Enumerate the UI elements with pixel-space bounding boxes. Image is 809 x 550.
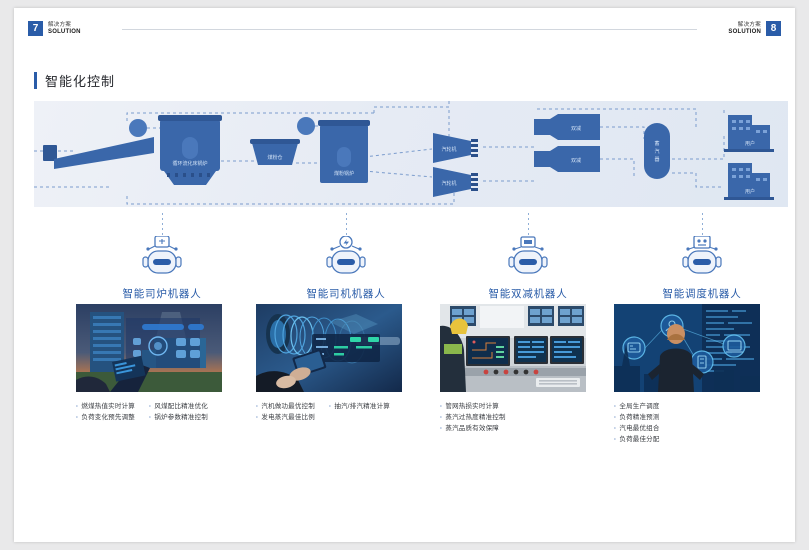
- section-accent-bar: [34, 72, 37, 89]
- dispatch-dashboard-photo: [614, 304, 760, 392]
- card-bullets: 燃煤热值实时计算 风煤配比精准优化 负荷变化预先调整 锅炉参数精准控制: [76, 401, 222, 423]
- diagram-users: 用户 用户: [724, 115, 774, 200]
- diagram-label-accumulator-2: 汽: [654, 148, 659, 155]
- feature-card: 燃煤热值实时计算 风煤配比精准优化 负荷变化预先调整 锅炉参数精准控制: [76, 304, 222, 423]
- header-left-en: SOLUTION: [48, 29, 81, 36]
- power-plant-operator-photo: [76, 304, 222, 392]
- robot-item-reducer: 智能双减机器人: [434, 213, 622, 301]
- bullet-item: 燃煤热值实时计算: [76, 401, 149, 412]
- section-title: 智能化控制: [34, 71, 115, 90]
- diagram-label-boiler2: 煤粉锅炉: [334, 170, 354, 177]
- robot-label: 智能调度机器人: [608, 286, 796, 301]
- bullet-item: 抽汽/排汽精准计算: [329, 401, 402, 412]
- bullet-item: 汽机做功最优控制: [256, 401, 329, 412]
- robot-item-driver: 智能司机机器人: [252, 213, 440, 301]
- header-right-cn: 解决方案: [728, 22, 761, 29]
- slide-canvas: 7 解决方案 SOLUTION 解决方案 SOLUTION 8 智能化控制 .d…: [14, 8, 795, 542]
- feature-card: 全局生产调度 负荷精准预测 汽电最优组合 负荷最佳分配: [614, 304, 760, 445]
- diagram-reducers: 双减 双减: [534, 114, 600, 172]
- robot-dispatch-icon: [675, 236, 729, 278]
- header-left-group: 7 解决方案 SOLUTION: [28, 21, 81, 36]
- feature-card: 汽机做功最优控制 抽汽/排汽精准计算 发电蒸汽最佳比例: [256, 304, 402, 423]
- header-divider: [122, 29, 697, 30]
- robot-connector-line: [162, 213, 163, 235]
- header-left-text: 解决方案 SOLUTION: [48, 22, 81, 36]
- turbine-tablet-photo: [256, 304, 402, 392]
- header-left-cn: 解决方案: [48, 22, 81, 29]
- diagram-label-turbine2: 汽轮机: [441, 180, 456, 187]
- robot-label: 智能司机机器人: [252, 286, 440, 301]
- bullet-item: 锅炉参数精准控制: [149, 412, 222, 423]
- bullet-item: 负荷精准预测: [614, 412, 760, 423]
- robot-label: 智能双减机器人: [434, 286, 622, 301]
- slide-header: 7 解决方案 SOLUTION 解决方案 SOLUTION 8: [14, 8, 795, 48]
- header-right-text: 解决方案 SOLUTION: [728, 22, 761, 36]
- diagram-label-boiler1: 循环流化床锅炉: [172, 160, 207, 167]
- diagram-accumulator: 蓄 汽 器: [644, 123, 670, 179]
- bullet-item: 发电蒸汽最佳比例: [256, 412, 329, 423]
- header-right-number: 8: [766, 21, 781, 36]
- bullet-item: 负荷最佳分配: [614, 434, 760, 445]
- robot-item-dispatch: 智能调度机器人: [608, 213, 796, 301]
- diagram-label-reducer1: 双减: [571, 125, 581, 132]
- bullet-item: 风煤配比精准优化: [149, 401, 222, 412]
- robot-boiler-icon: [135, 236, 189, 278]
- diagram-boiler1: 循环流化床锅炉: [43, 115, 222, 185]
- diagram-label-reducer2: 双减: [571, 157, 581, 164]
- bullet-item: 蒸汽品质有效保障: [440, 423, 586, 434]
- bullet-item: 负荷变化预先调整: [76, 412, 149, 423]
- feature-card: 管网热损实时计算 蒸汽过热度精准控制 蒸汽品质有效保障: [440, 304, 586, 434]
- header-right-group: 解决方案 SOLUTION 8: [728, 21, 781, 36]
- section-title-text: 智能化控制: [45, 71, 115, 90]
- bullet-item: 蒸汽过热度精准控制: [440, 412, 586, 423]
- robot-label: 智能司炉机器人: [68, 286, 256, 301]
- diagram-label-turbine1: 汽轮机: [441, 146, 456, 153]
- process-diagram: .dl{stroke:#7b9ccd;stroke-width:1;stroke…: [34, 101, 788, 207]
- diagram-label-user1: 用户: [745, 140, 755, 147]
- bullet-item: 管网热损实时计算: [440, 401, 586, 412]
- diagram-group2: 煤粉仓 煤粉锅炉: [250, 117, 370, 183]
- header-right-en: SOLUTION: [728, 29, 761, 36]
- card-bullets: 全局生产调度 负荷精准预测 汽电最优组合 负荷最佳分配: [614, 401, 760, 445]
- diagram-label-coal-silo: 煤粉仓: [267, 154, 282, 161]
- control-room-photo: [440, 304, 586, 392]
- robot-connector-line: [702, 213, 703, 235]
- robot-connector-line: [528, 213, 529, 235]
- card-bullets: 管网热损实时计算 蒸汽过热度精准控制 蒸汽品质有效保障: [440, 401, 586, 434]
- bullet-item: 全局生产调度: [614, 401, 760, 412]
- diagram-label-accumulator-3: 器: [654, 157, 659, 163]
- bullet-item: 汽电最优组合: [614, 423, 760, 434]
- header-left-number: 7: [28, 21, 43, 36]
- robot-reducer-icon: [501, 236, 555, 278]
- diagram-label-accumulator-1: 蓄: [654, 140, 659, 147]
- robot-item-boiler: 智能司炉机器人: [68, 213, 256, 301]
- diagram-turbines: 汽轮机 汽轮机: [433, 133, 478, 197]
- robot-row: 智能司炉机器人 智能司机机器人: [34, 213, 788, 303]
- robot-connector-line: [346, 213, 347, 235]
- card-row: 燃煤热值实时计算 风煤配比精准优化 负荷变化预先调整 锅炉参数精准控制: [34, 304, 788, 454]
- card-bullets: 汽机做功最优控制 抽汽/排汽精准计算 发电蒸汽最佳比例: [256, 401, 402, 423]
- diagram-label-user2: 用户: [745, 188, 755, 195]
- robot-driver-icon: [319, 236, 373, 278]
